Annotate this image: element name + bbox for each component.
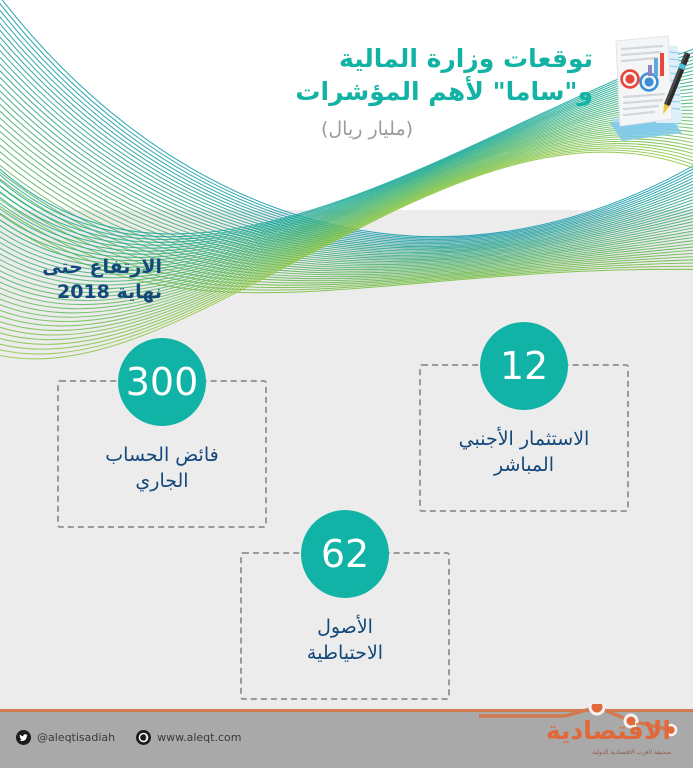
- metric-current-account: 300 فائض الحساب الجاري: [50, 338, 274, 494]
- trend-note-line-2: نهاية 2018: [12, 280, 162, 305]
- website-link[interactable]: www.aleqt.com: [136, 730, 241, 745]
- infographic-canvas: توقعات وزارة المالية و"ساما" لأهم المؤشر…: [0, 0, 693, 768]
- website-label: www.aleqt.com: [157, 731, 241, 744]
- brand-logo[interactable]: الاقتصادية صحيفة العرب الاقتصادية الدولي…: [479, 704, 679, 760]
- trend-note-line-1: الارتفاع حتى: [12, 255, 162, 280]
- page-subtitle: (مليار ريال): [193, 117, 593, 141]
- metric-fdi: 12 الاستثمار الأجنبي المباشر: [412, 322, 636, 478]
- metric-caption-line-2: الاحتياطية: [301, 642, 389, 664]
- twitter-handle-label: @aleqtisadiah: [37, 731, 115, 744]
- twitter-link[interactable]: @aleqtisadiah: [16, 730, 115, 745]
- header-title-block: توقعات وزارة المالية و"ساما" لأهم المؤشر…: [193, 42, 593, 141]
- metric-caption-line-2: الجاري: [129, 470, 194, 492]
- metric-value-bubble: 12: [480, 322, 568, 410]
- metric-value-bubble: 62: [301, 510, 389, 598]
- trend-note: الارتفاع حتى نهاية 2018: [12, 255, 162, 305]
- social-links: @aleqtisadiah www.aleqt.com: [16, 730, 241, 745]
- metric-reserve-assets: 62 الأصول الاحتياطية: [233, 510, 457, 666]
- metric-value-bubble: 300: [118, 338, 206, 426]
- twitter-bird-icon: [16, 730, 31, 745]
- brand-name: الاقتصادية: [546, 718, 671, 744]
- globe-icon: [136, 730, 151, 745]
- metric-caption-line-2: المباشر: [488, 454, 560, 476]
- page-title-line-2: و"ساما" لأهم المؤشرات: [193, 75, 593, 108]
- page-title-line-1: توقعات وزارة المالية: [193, 42, 593, 75]
- metric-caption-line-1: الاستثمار الأجنبي: [453, 428, 596, 450]
- metric-caption: الأصول الاحتياطية: [233, 614, 457, 666]
- metric-caption-line-1: فائض الحساب: [99, 444, 224, 466]
- report-document-icon: [598, 27, 690, 149]
- metric-caption-line-1: الأصول: [311, 616, 379, 638]
- metric-caption: فائض الحساب الجاري: [50, 442, 274, 494]
- metric-caption: الاستثمار الأجنبي المباشر: [412, 426, 636, 478]
- brand-tagline: صحيفة العرب الاقتصادية الدولية: [592, 749, 671, 756]
